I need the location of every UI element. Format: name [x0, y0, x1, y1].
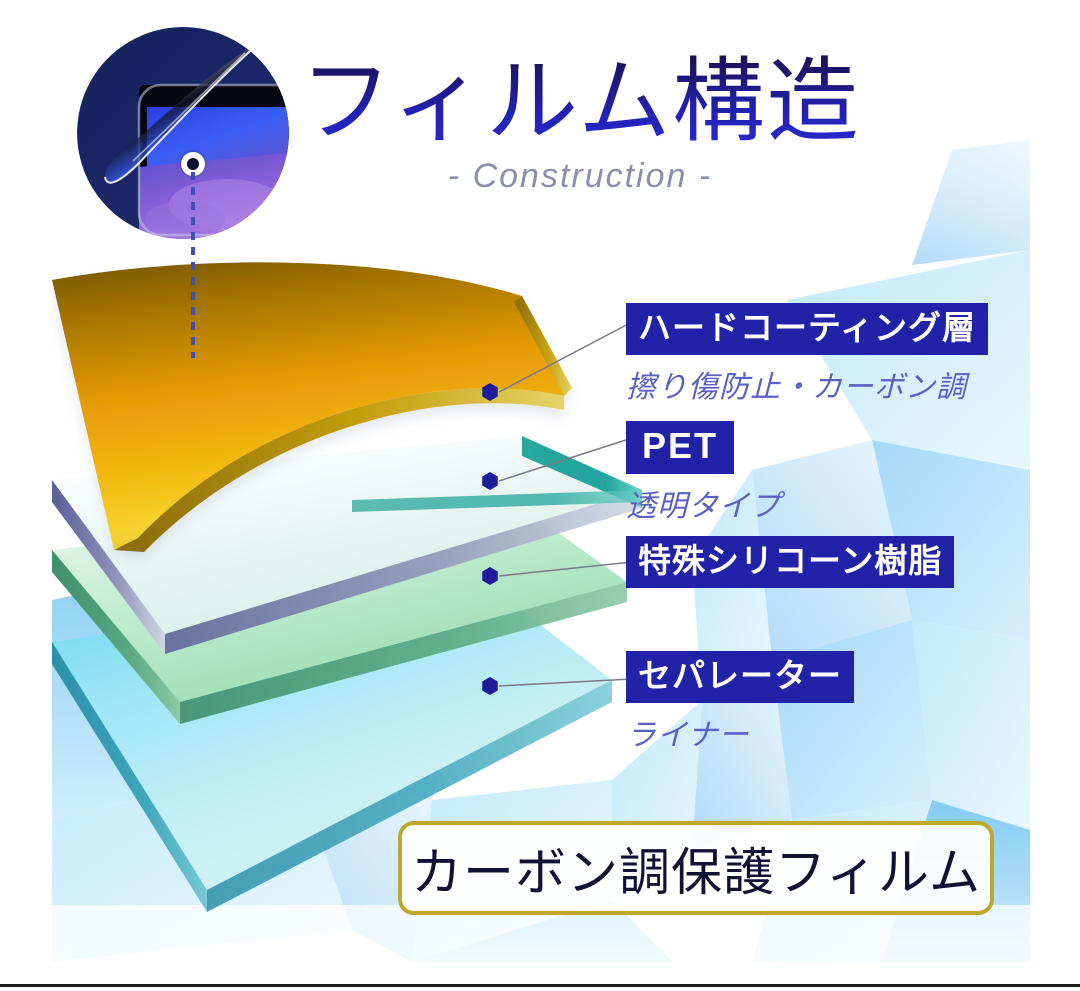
leader-hard-coating [499, 322, 632, 392]
callout-label-pet: PET [626, 421, 734, 474]
callout-hard-coating: ハードコーティング層 擦り傷防止・カーボン調 [626, 303, 988, 406]
leader-pet [499, 438, 632, 481]
film-construction-infographic: フィルム構造 - Construction - ハードコーティング層 擦り傷防止… [0, 0, 1080, 991]
page-title: フィルム構造 [300, 52, 860, 151]
callout-label-separator: セパレーター [626, 651, 854, 703]
callout-separator: セパレーター ライナー [626, 651, 854, 754]
badge-circle [77, 27, 289, 239]
dashed-connector-line [191, 172, 195, 358]
leader-separator [499, 679, 632, 686]
film-peeling-on-device-icon [77, 27, 289, 239]
title-block: フィルム構造 - Construction - [300, 52, 860, 196]
callout-label-hard-coating: ハードコーティング層 [626, 303, 988, 355]
callout-pet: PET 透明タイプ [626, 421, 781, 525]
page-subtitle: - Construction - [300, 157, 860, 196]
bottom-caption-text: カーボン調保護フィルム [411, 831, 981, 905]
callout-sub-hard-coating: 擦り傷防止・カーボン調 [626, 362, 988, 406]
bottom-caption: カーボン調保護フィルム [398, 821, 994, 915]
callout-silicone: 特殊シリコーン樹脂 [626, 536, 954, 588]
bottom-divider [0, 984, 1080, 987]
leader-silicone [499, 562, 632, 576]
callout-label-silicone: 特殊シリコーン樹脂 [626, 536, 954, 588]
callout-sub-pet: 透明タイプ [626, 481, 781, 525]
callout-sub-separator: ライナー [626, 710, 854, 754]
